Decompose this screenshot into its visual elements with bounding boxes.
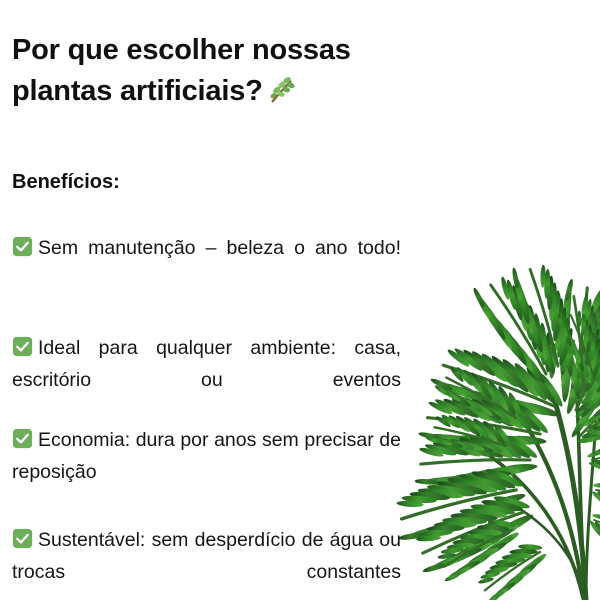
herb-emoji xyxy=(267,75,297,105)
page-title: Por que escolher nossas plantas artifici… xyxy=(12,30,452,112)
benefits-heading: Benefícios: xyxy=(12,170,120,194)
poster-text-layer: Por que escolher nossas plantas artifici… xyxy=(0,0,600,600)
benefit-text: Sem manutenção – beleza o ano todo! xyxy=(38,237,401,259)
check-mark-emoji xyxy=(12,336,33,357)
page-title-line1: Por que escolher nossas xyxy=(12,34,351,66)
benefit-text: Ideal para qualquer ambiente: casa, escr… xyxy=(12,337,401,391)
benefit-text: Sustentável: sem desperdício de água ou … xyxy=(12,529,401,583)
benefit-item: Sem manutenção – beleza o ano todo! xyxy=(12,232,401,296)
check-mark-emoji xyxy=(12,428,33,449)
benefit-text: Economia: dura por anos sem precisar de … xyxy=(12,429,401,483)
page-title-line2: plantas artificiais? xyxy=(12,75,263,107)
check-mark-emoji xyxy=(12,236,33,257)
check-mark-emoji xyxy=(12,528,33,549)
benefit-item: Sustentável: sem desperdício de água ou … xyxy=(12,524,401,600)
poster-canvas: Por que escolher nossas plantas artifici… xyxy=(0,0,600,600)
benefit-item: Ideal para qualquer ambiente: casa, escr… xyxy=(12,332,401,428)
benefit-item: Economia: dura por anos sem precisar de … xyxy=(12,424,401,520)
